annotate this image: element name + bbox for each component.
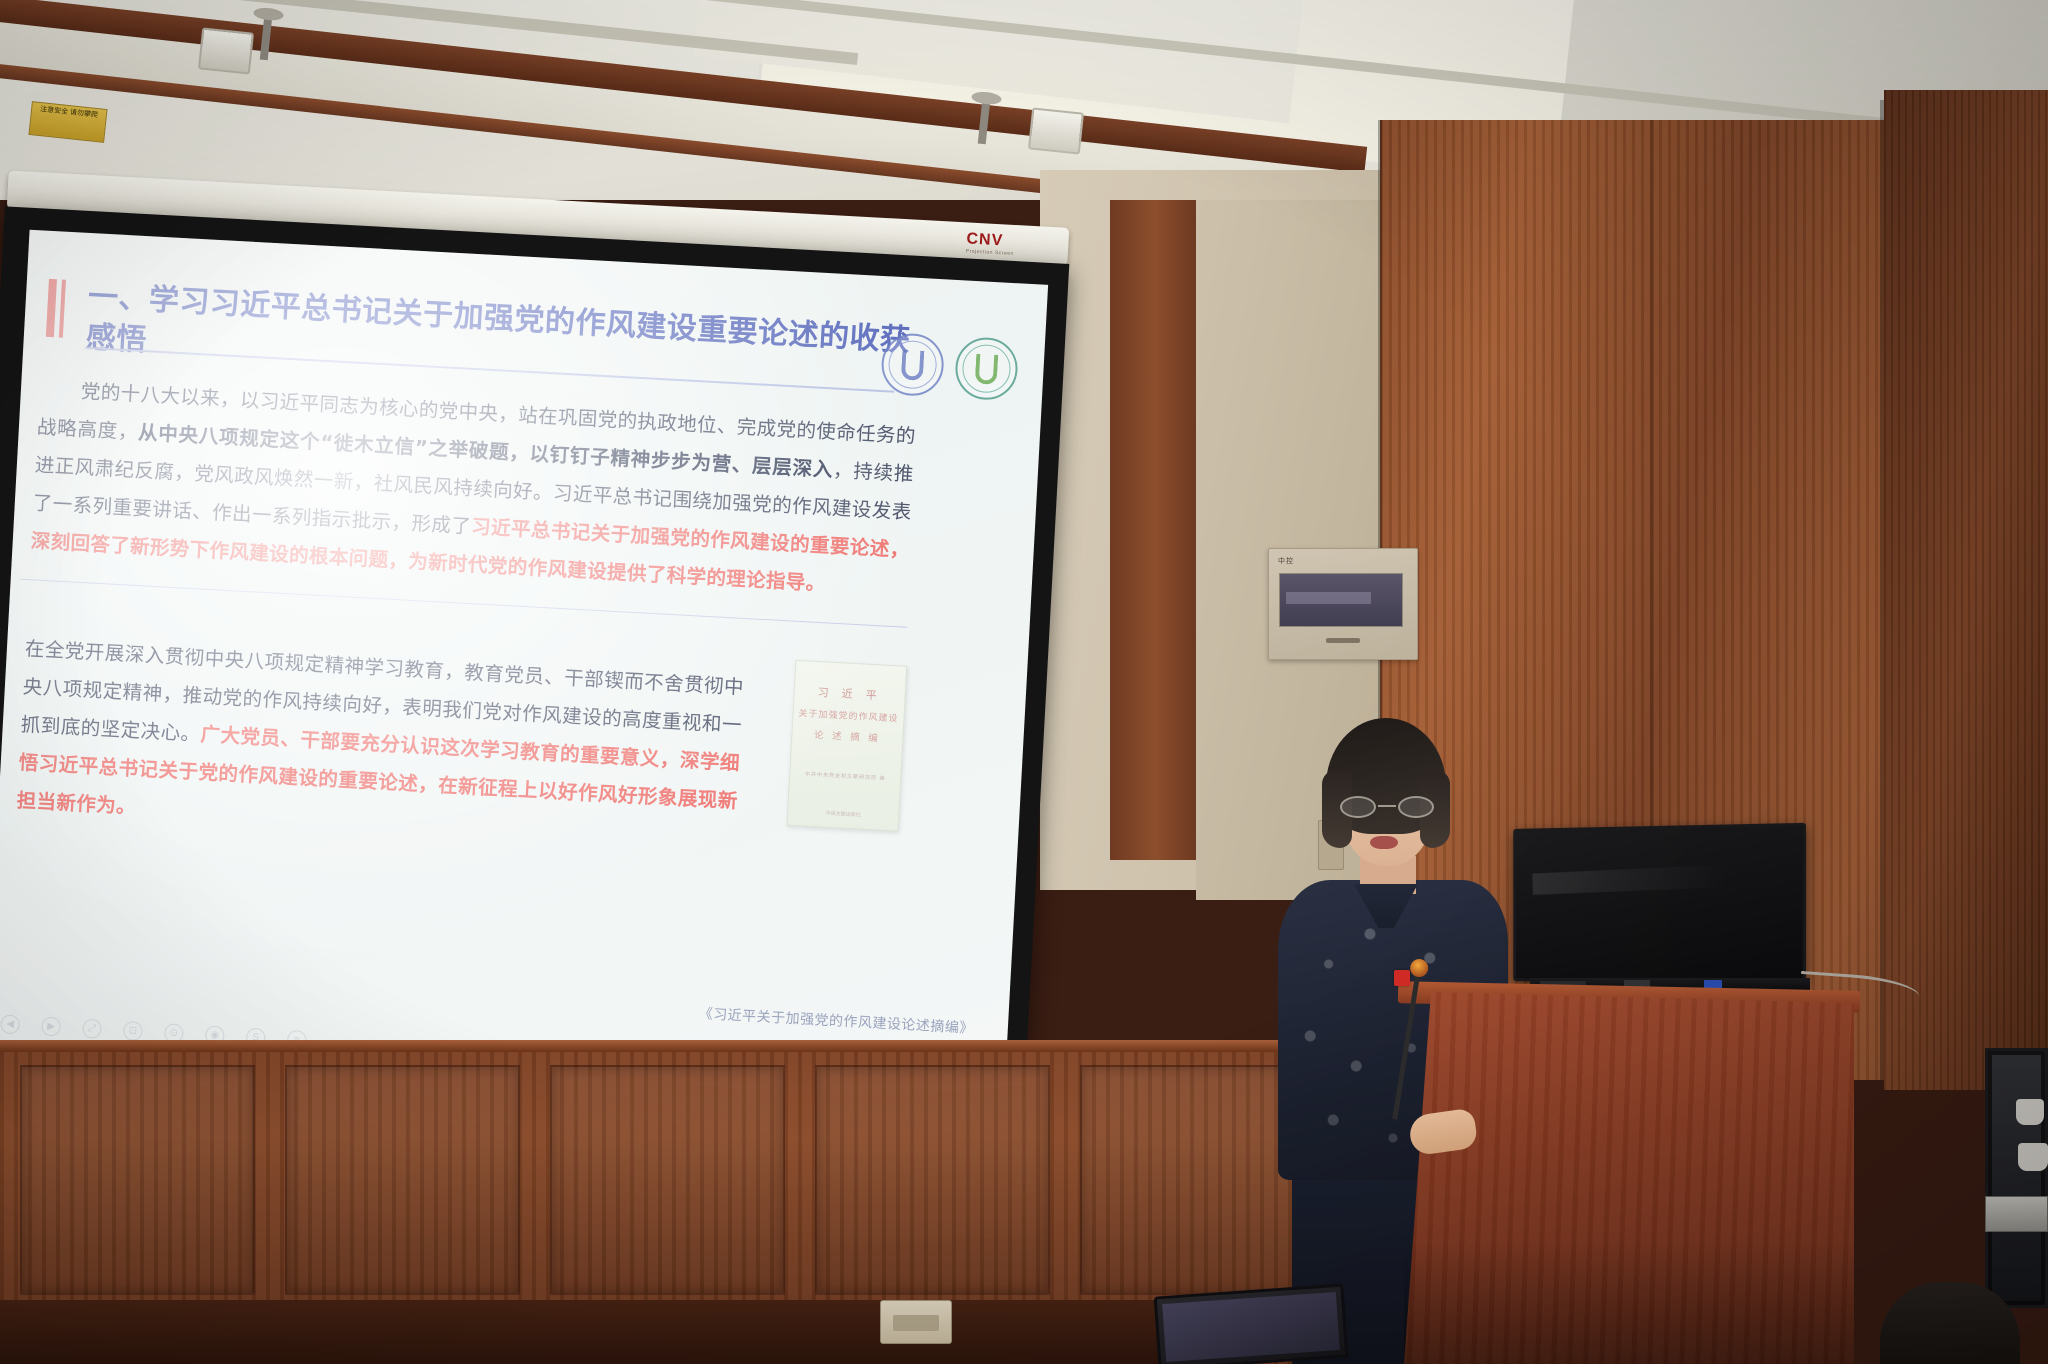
slide-prev-icon[interactable]: ◀ (0, 1014, 20, 1034)
presentation-slide[interactable]: 一、学习习近平总书记关于加强党的作风建设重要论述的收获感悟 党的十八大以来，以习… (0, 230, 1048, 1096)
wainscot-panel (550, 1065, 785, 1295)
projection-screen: CNV Projection Screen 一、学习习近平总书记关于加强党的作风… (0, 148, 1088, 1106)
cabinet-drawer[interactable] (1985, 1196, 2048, 1232)
wall-wood-column (1110, 200, 1200, 860)
audience-laptop[interactable] (1154, 1283, 1349, 1364)
slide-fullscreen-icon[interactable]: ⤢ (82, 1019, 102, 1039)
book-publisher: 中央文献出版社 (788, 808, 898, 821)
cabinet-glass-door (1992, 1055, 2041, 1301)
wall-seam (1880, 100, 1884, 1080)
slide-citation: 《习近平关于加强党的作风建设论述摘编》 (698, 1003, 974, 1038)
slide-next-icon[interactable]: ▶ (41, 1017, 61, 1037)
slide-layout-icon[interactable]: ⊡ (123, 1021, 143, 1041)
ceiling-warning-sign: 注意安全 请勿攀爬 (28, 101, 107, 143)
wainscot-panel (285, 1065, 520, 1295)
cup (2016, 1099, 2044, 1125)
para2-seg-normal: 在全党开展深入贯彻中央八项规定精神学习教育，教育党员、干部锲而不舍贯彻中央八项规… (20, 637, 744, 746)
slide-logos (880, 332, 1019, 401)
cup (2018, 1143, 2048, 1171)
screen-border: 一、学习习近平总书记关于加强党的作风建设重要论述的收获感悟 党的十八大以来，以习… (0, 206, 1069, 1142)
wall-power-outlet[interactable] (880, 1300, 952, 1344)
wall-control-panel-button[interactable] (1326, 638, 1360, 643)
wall-control-panel[interactable]: 中控 (1268, 548, 1418, 660)
ceiling-light-icon (1028, 107, 1084, 154)
wall-wood-far-right (1884, 90, 2048, 1090)
wainscot-panel (815, 1065, 1050, 1295)
book-title-line1: 习 近 平 (794, 683, 905, 705)
lectern-shadow (1404, 1240, 1854, 1364)
wainscot-rail (0, 1040, 1400, 1052)
university-emblem-blue-icon (880, 332, 945, 397)
title-accent-bar (46, 279, 73, 338)
photo-scene: 注意安全 请勿攀爬 中控 CNV Projection Screen 一、学习习… (0, 0, 2048, 1364)
eyeglasses-icon (1338, 796, 1436, 818)
presenter-mouth (1370, 836, 1398, 849)
wainscot-panel (20, 1065, 255, 1295)
wall-control-panel-display (1279, 573, 1403, 627)
glassware-display-cabinet[interactable] (1985, 1048, 2048, 1308)
desktop-monitor[interactable] (1513, 823, 1806, 987)
cnv-brand-text: CNV (966, 230, 1004, 249)
wall-control-panel-label: 中控 (1278, 556, 1294, 566)
book-title-line2: 关于加强党的作风建设 (793, 706, 904, 725)
slide-paragraph-2: 在全党开展深入贯彻中央八项规定精神学习教育，教育党员、干部锲而不舍贯彻中央八项规… (16, 630, 745, 859)
laptop-screen (1162, 1292, 1340, 1362)
ceiling-light-icon (198, 27, 254, 74)
monitor-glare (1532, 865, 1728, 895)
book-title-line3: 论 述 摘 编 (792, 726, 903, 746)
cnv-brand-subtext: Projection Screen (966, 248, 1014, 257)
floor (0, 1300, 1200, 1364)
book-cover-image: 习 近 平 关于加强党的作风建设 论 述 摘 编 中共中央党史和文献研究院 编 … (787, 660, 908, 832)
party-emblem-pin (1394, 970, 1410, 986)
book-editor: 中共中央党史和文献研究院 编 (790, 770, 900, 783)
cnv-brand-logo: CNV Projection Screen (966, 230, 1015, 257)
institute-emblem-green-icon (954, 336, 1019, 401)
